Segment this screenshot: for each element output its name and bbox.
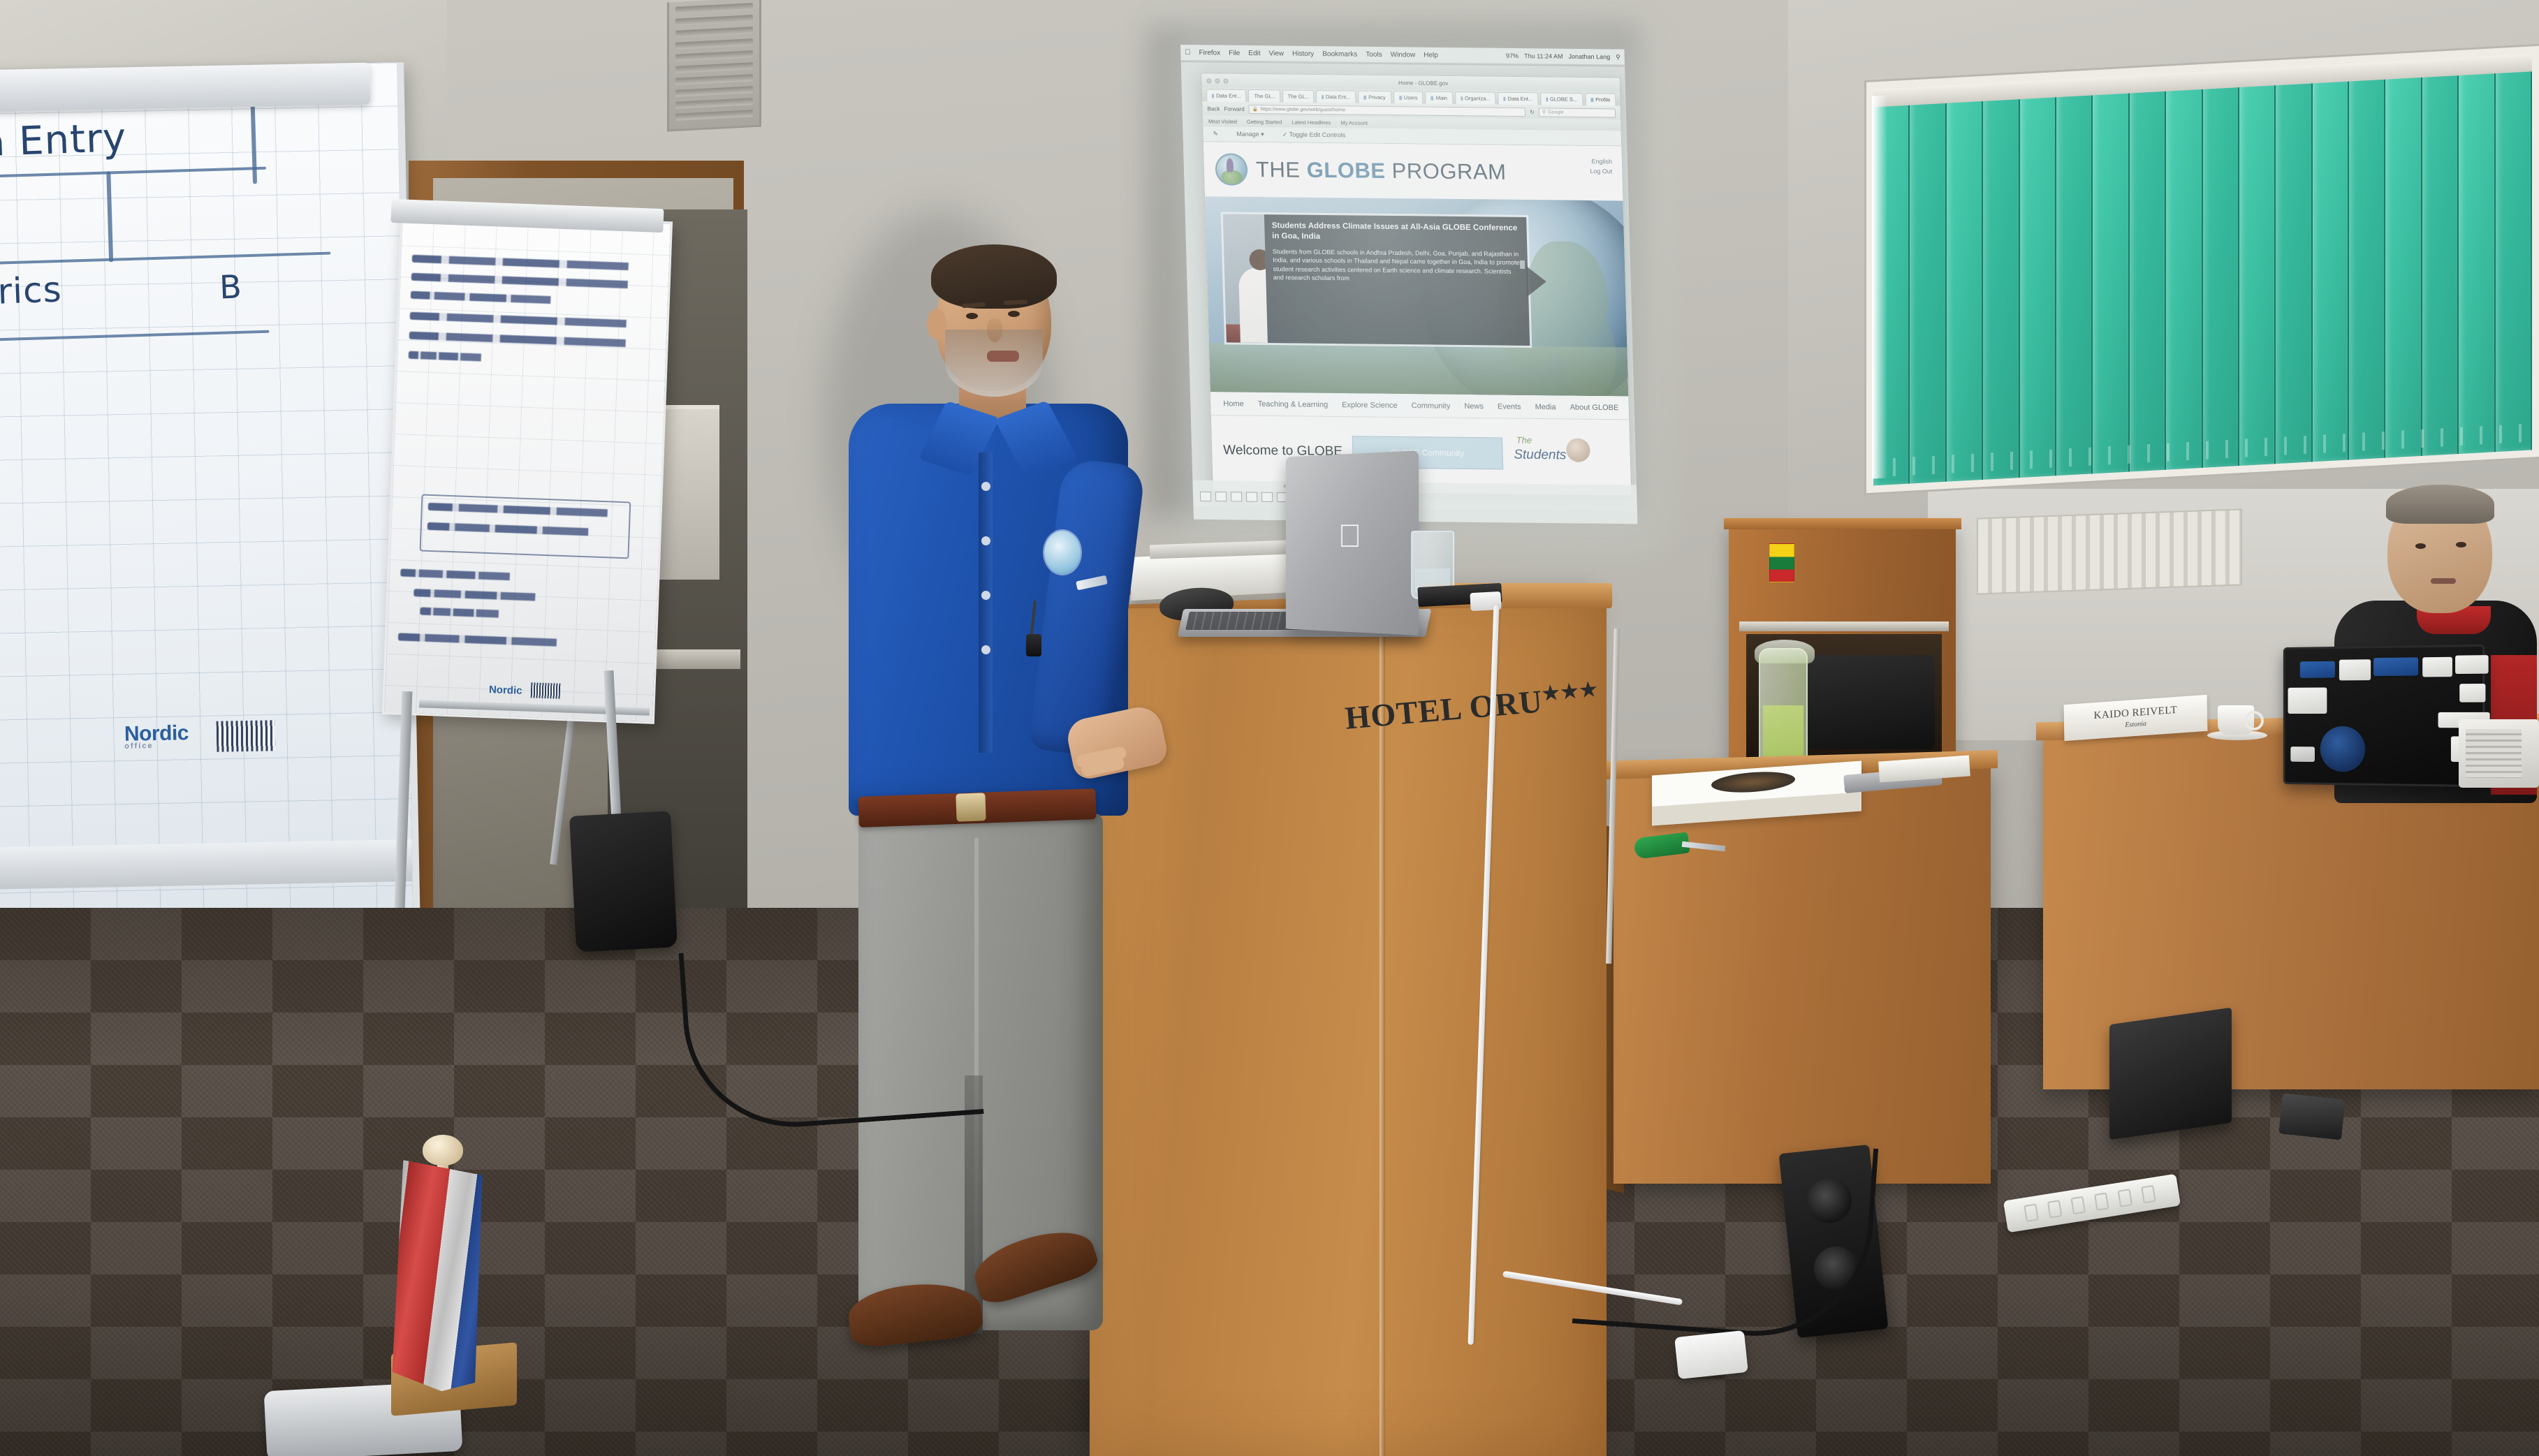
flipchart-grid — [384, 214, 671, 722]
site-body: Welcome to GLOBE GLOBE Community The Stu… — [1211, 416, 1631, 490]
firefox-window: Home - GLOBE.gov Data Ent... The GL... T… — [1201, 73, 1632, 496]
menu-item-tools[interactable]: Tools — [1366, 50, 1382, 58]
nameplate-name: KAIDO REIVELT — [2093, 705, 2177, 722]
presenter-nose — [987, 318, 1002, 342]
globe-shirt-patch — [1044, 531, 1081, 574]
bookmark-my-account[interactable]: My Account — [1340, 119, 1368, 126]
lithuania-flag-sticker — [1769, 543, 1794, 582]
feature-text: Students Address Climate Issues at All-A… — [1264, 214, 1530, 346]
attendee-hair — [2386, 485, 2494, 524]
presenter-ear — [927, 309, 946, 339]
browser-tab[interactable]: Data Ent... — [1316, 90, 1356, 103]
laptop-sticker-nasa-seal — [2320, 726, 2366, 772]
attendee-eye-right — [2456, 542, 2466, 547]
radiator — [1977, 508, 2242, 594]
whiteboard-roller — [0, 63, 371, 112]
whiteboard-left: ta Entry S etrics B — [0, 62, 420, 936]
window-title: Home - GLOBE.gov — [1398, 80, 1448, 87]
black-equipment-bag — [1806, 655, 1935, 749]
sticker-covered-laptop[interactable] — [2283, 645, 2485, 787]
presenter-shirt-button — [981, 536, 990, 545]
laptop-sticker-illustration — [2288, 687, 2327, 714]
browser-tab[interactable]: GLOBE S... — [1540, 92, 1583, 105]
presenter-shirt-button — [981, 591, 990, 600]
ceiling-vent-icon — [667, 0, 761, 132]
bookmark-getting-started[interactable]: Getting Started — [1247, 118, 1282, 125]
floor-equipment-box — [2109, 1008, 2232, 1140]
shelf-unit-top — [1724, 518, 1961, 529]
search-icon: ⚲ — [1542, 109, 1546, 115]
language-label[interactable]: English — [1590, 157, 1612, 167]
presenter-belt-buckle — [956, 793, 986, 821]
toggle-edit-controls[interactable]: ✓ Toggle Edit Controls — [1282, 131, 1346, 139]
apple-menu-icon[interactable]:  — [1185, 48, 1191, 57]
site-language-block: English Log Out — [1590, 157, 1613, 176]
flipchart-pad — [382, 212, 673, 724]
search-placeholder: Google — [1548, 110, 1564, 115]
forward-button[interactable]: Forward — [1224, 105, 1245, 112]
back-button[interactable]: Back — [1207, 105, 1220, 112]
frame-icon[interactable] — [1246, 492, 1257, 502]
menu-item-help[interactable]: Help — [1424, 51, 1438, 59]
laptop-sticker-epa — [2300, 661, 2335, 678]
browser-tab[interactable]: Data Ent... — [1498, 92, 1538, 105]
laptop-sticker-photo — [2339, 659, 2371, 680]
window-light-leak — [1872, 95, 1887, 478]
list-icon[interactable] — [1200, 492, 1211, 501]
globe-logo-icon — [1215, 153, 1247, 185]
attendee-mouth — [2431, 578, 2456, 584]
pencil-icon: ✎ — [1213, 130, 1218, 138]
browser-tab[interactable]: Profile — [1585, 93, 1616, 105]
students-badge-line1: The — [1516, 435, 1532, 446]
power-adapter — [1674, 1330, 1748, 1379]
barcode-label — [217, 720, 276, 751]
laptop-sticker-small — [2459, 684, 2485, 703]
presenter-eye-left — [966, 313, 978, 319]
students-badge[interactable]: The Students — [1512, 434, 1593, 475]
menu-item-firefox[interactable]: Firefox — [1199, 49, 1220, 57]
address-bar[interactable]: 🔒 https://www.globe.gov/web/guest/home — [1249, 104, 1526, 116]
browser-tab[interactable]: The GL... — [1248, 89, 1280, 102]
glass-carafe — [1759, 648, 1808, 774]
presenter-eye-right — [1008, 311, 1020, 317]
presenter-shirt-button — [981, 645, 990, 654]
center-desk — [1614, 765, 1991, 1184]
feature-body: Students from GLOBE schools in Andhra Pr… — [1273, 247, 1521, 284]
globe-website: THE GLOBE PROGRAM English Log Out — [1203, 142, 1631, 495]
menubar-user[interactable]: Jonathan Lang — [1568, 53, 1610, 61]
attendee-eye-left — [2415, 543, 2426, 549]
feature-scrollbar[interactable] — [1520, 260, 1525, 269]
menu-item-history[interactable]: History — [1292, 50, 1314, 57]
spotlight-search-icon[interactable]: ⚲ — [1616, 53, 1620, 61]
nav-about-globe[interactable]: About GLOBE — [1570, 403, 1618, 412]
macbook-lid:  — [1286, 450, 1419, 635]
students-badge-face — [1566, 438, 1590, 462]
bookmark-latest-headlines[interactable]: Latest Headlines — [1292, 119, 1331, 126]
nav-home[interactable]: Home — [1223, 399, 1244, 408]
grid-icon[interactable] — [1261, 492, 1273, 502]
cursor-icon[interactable] — [1215, 492, 1227, 501]
laptop-sticker-aga — [2290, 747, 2315, 762]
window-with-blinds — [1866, 46, 2539, 493]
whiteboard-line-1: ta Entry — [0, 115, 127, 166]
presenter-shirt-button — [981, 482, 990, 491]
vertical-blinds[interactable] — [1873, 53, 2532, 485]
battery-percent: 97% — [1506, 52, 1519, 59]
feature-callout-arrow — [1526, 266, 1546, 297]
search-input[interactable]: ⚲ Google — [1539, 108, 1616, 117]
floor-small-box — [2278, 1093, 2346, 1140]
browser-tab[interactable]: Organiza... — [1455, 91, 1496, 105]
logout-link[interactable]: Log Out — [1590, 167, 1612, 177]
crop-icon[interactable] — [1231, 492, 1242, 501]
portable-projector — [2459, 719, 2539, 788]
padlock-icon: 🔒 — [1252, 106, 1259, 112]
flipchart-brand: Nordic — [489, 684, 522, 697]
menu-item-view[interactable]: View — [1268, 50, 1284, 57]
nav-community[interactable]: Community — [1412, 402, 1451, 411]
conference-room-scene:  Firefox File Edit View History Bookmar… — [0, 0, 2539, 1456]
menubar-clock[interactable]: Thu 11:24 AM — [1524, 52, 1563, 60]
whiteboard-bottom-rail — [0, 839, 413, 890]
shelf-board — [1739, 622, 1949, 631]
lapel-microphone — [1026, 634, 1041, 656]
hotel-stars: ★★★ — [1541, 679, 1600, 705]
browser-tab[interactable]: Data Ent... — [1206, 89, 1247, 102]
feature-card[interactable]: Students Address Climate Issues at All-A… — [1221, 212, 1532, 348]
minimize-icon[interactable] — [1215, 78, 1220, 83]
whiteboard-line-4: B — [219, 267, 243, 306]
zoom-icon[interactable] — [1223, 78, 1228, 83]
menu-item-file[interactable]: File — [1229, 49, 1240, 57]
whiteboard-line-3: etrics — [0, 269, 63, 313]
hero-landscape — [1209, 343, 1628, 396]
whiteboard-grid — [0, 62, 414, 936]
address-bar-value: https://www.globe.gov/web/guest/home — [1260, 107, 1345, 112]
laptop-sticker-text — [2455, 655, 2489, 674]
presenter-shirt-placket — [979, 453, 993, 753]
site-hero: Students Address Climate Issues at All-A… — [1205, 196, 1628, 396]
students-badge-line2: Students — [1514, 448, 1567, 464]
presenter-hair — [931, 244, 1057, 309]
manage-menu[interactable]: Manage ▾ — [1236, 131, 1264, 138]
apple-logo-icon:  — [1338, 520, 1362, 552]
nordic-brand-logo: Nordic office — [124, 721, 189, 751]
browser-tab[interactable]: Users — [1393, 91, 1423, 103]
nav-media[interactable]: Media — [1535, 402, 1556, 411]
nameplate-country: Estonia — [2125, 720, 2146, 729]
menu-item-window[interactable]: Window — [1391, 51, 1416, 59]
coffee-cup — [2218, 705, 2254, 735]
laptop-sticker-blue-banner — [2373, 657, 2418, 676]
nav-teaching-learning[interactable]: Teaching & Learning — [1258, 399, 1329, 409]
browser-tab[interactable]: Main — [1425, 91, 1453, 104]
menu-item-edit[interactable]: Edit — [1248, 50, 1261, 57]
laptop-sticker-globe — [2422, 657, 2452, 677]
close-icon[interactable] — [1206, 78, 1211, 83]
presenter — [842, 251, 1135, 1425]
site-wordmark: THE GLOBE PROGRAM — [1256, 157, 1507, 185]
bookmark-most-visited[interactable]: Most Visited — [1208, 118, 1237, 124]
browser-tab[interactable]: The GL... — [1282, 89, 1314, 102]
reload-button[interactable]: ↻ — [1530, 109, 1535, 115]
nav-explore-science[interactable]: Explore Science — [1342, 401, 1398, 410]
presenter-mouth — [987, 351, 1019, 362]
flag-pole-finial — [423, 1135, 463, 1165]
flipchart-barcode — [531, 682, 561, 698]
feature-photo-person — [1238, 267, 1268, 343]
nav-news[interactable]: News — [1464, 402, 1484, 410]
feature-photo — [1223, 214, 1268, 343]
site-header: THE GLOBE PROGRAM English Log Out — [1203, 142, 1623, 200]
floor-bag — [569, 811, 678, 952]
feature-headline: Students Address Climate Issues at All-A… — [1272, 221, 1521, 245]
menu-item-bookmarks[interactable]: Bookmarks — [1322, 50, 1357, 59]
browser-tab[interactable]: Privacy — [1358, 91, 1391, 103]
nav-events[interactable]: Events — [1498, 402, 1521, 411]
